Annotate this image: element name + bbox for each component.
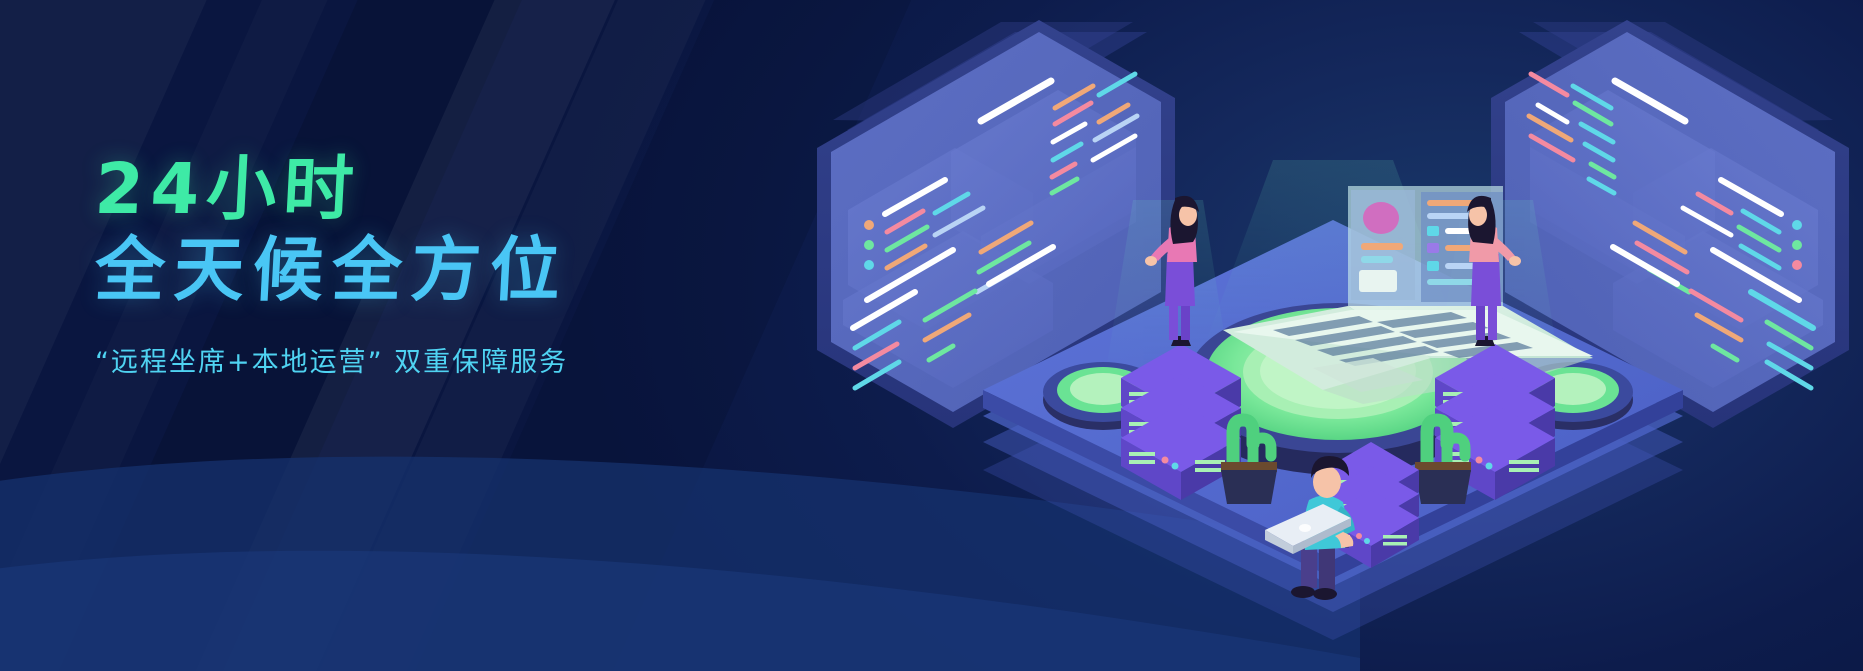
headline-line-2: 全天候全方位 <box>93 233 857 308</box>
isometric-illustration <box>803 0 1863 671</box>
text-block: 24小时 全天候全方位 “远程坐席+本地运营” 双重保障服务 <box>95 152 855 379</box>
promo-banner: 24小时 全天候全方位 “远程坐席+本地运营” 双重保障服务 <box>0 0 1863 671</box>
subtitle: “远程坐席+本地运营” 双重保障服务 <box>95 340 855 379</box>
headline-line-1: 24小时 <box>93 152 857 227</box>
